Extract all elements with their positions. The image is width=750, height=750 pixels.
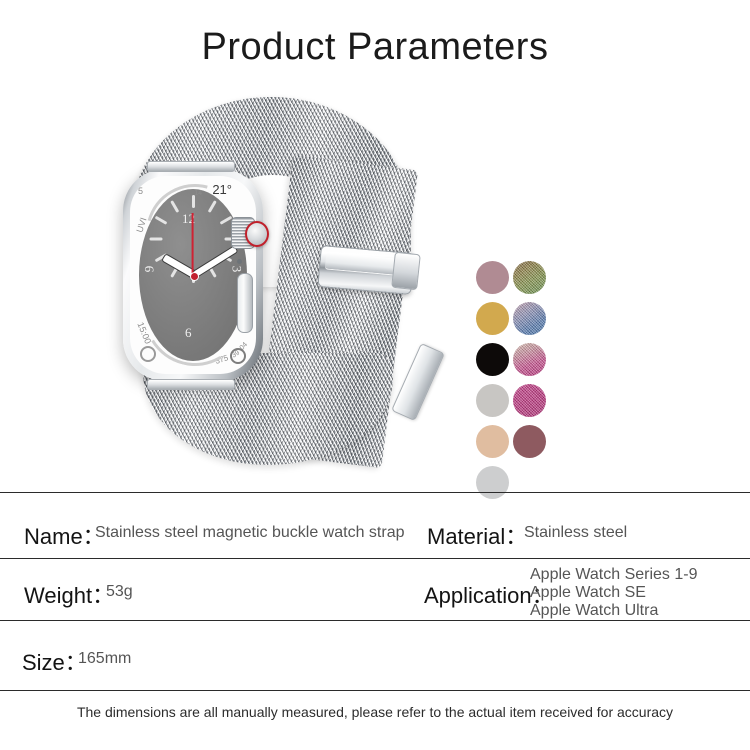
swatch-magenta[interactable]	[513, 384, 546, 417]
world-clock-icon	[230, 348, 246, 364]
complication-uv-value: 5	[138, 186, 143, 196]
spec-label-weight: Weight：	[24, 578, 114, 610]
swatch-blue-violet-gradient[interactable]	[513, 302, 546, 335]
strap-lower-clasp	[391, 343, 445, 421]
swatch-mauve-rose[interactable]	[476, 261, 509, 294]
watch-lug-top	[147, 161, 235, 172]
swatch-beige-nude[interactable]	[476, 425, 509, 458]
buckle-tab	[391, 252, 421, 291]
swatch-row	[476, 384, 586, 417]
table-divider	[0, 690, 750, 691]
swatch-row	[476, 466, 586, 499]
swatch-mustard-gold[interactable]	[476, 302, 509, 335]
watch-illustration: 12 3 6 9 5 UVI 21° 14 24 15:00 375	[95, 95, 445, 475]
swatch-silver-gray[interactable]	[476, 466, 509, 499]
spec-value-name: Stainless steel magnetic buckle watch st…	[95, 524, 404, 542]
watch-bezel: 12 3 6 9 5 UVI 21° 14 24 15:00 375	[130, 176, 256, 374]
swatch-row	[476, 425, 586, 458]
spec-value-material: Stainless steel	[524, 524, 627, 542]
spec-label-name: Name：	[24, 519, 105, 551]
product-image-area: 12 3 6 9 5 UVI 21° 14 24 15:00 375	[0, 95, 750, 480]
swatch-row	[476, 343, 586, 376]
table-divider	[0, 492, 750, 493]
swatch-plum-brown[interactable]	[513, 425, 546, 458]
activity-ring-icon	[140, 346, 156, 362]
table-divider	[0, 558, 750, 559]
color-swatch-grid[interactable]	[476, 261, 586, 507]
spec-value-application: Apple Watch Series 1-9Apple Watch SEAppl…	[530, 566, 740, 620]
spec-value-weight: 53g	[106, 583, 133, 601]
swatch-pink-magenta-gradient[interactable]	[513, 343, 546, 376]
spec-value-size: 165mm	[78, 650, 131, 668]
table-divider	[0, 620, 750, 621]
swatch-light-gray[interactable]	[476, 384, 509, 417]
watch-numeral-9: 9	[141, 266, 157, 273]
side-button	[237, 273, 253, 333]
watch-lug-bottom	[147, 379, 235, 390]
footnote-text: The dimensions are all manually measured…	[0, 704, 750, 720]
digital-crown-red-ring	[245, 221, 269, 247]
swatch-row	[476, 302, 586, 335]
swatch-olive-green-gradient[interactable]	[513, 261, 546, 294]
page-title: Product Parameters	[0, 26, 750, 69]
swatch-black[interactable]	[476, 343, 509, 376]
spec-label-material: Material：	[427, 519, 527, 551]
hands-hub	[190, 272, 199, 281]
microphone-hole	[237, 259, 242, 264]
swatch-row	[476, 261, 586, 294]
